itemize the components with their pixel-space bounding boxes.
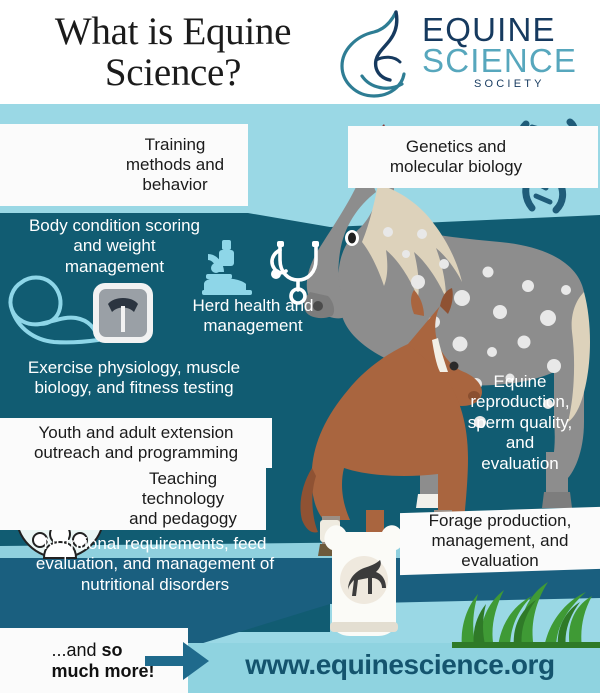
topic-extension-label: Youth and adult extensionoutreach and pr… — [0, 423, 272, 463]
stethoscope-icon — [266, 240, 324, 302]
topic-exercise-label: Exercise physiology, musclebiology, and … — [4, 358, 264, 399]
topic-forage-label: Forage production,management, andevaluat… — [400, 511, 600, 571]
topic-genetics[interactable]: Genetics andmolecular biology — [348, 126, 598, 188]
topic-forage[interactable]: Forage production,management, andevaluat… — [400, 507, 600, 575]
more-prefix: ...and — [51, 640, 101, 660]
topic-training-label: Trainingmethods andbehavior — [0, 135, 248, 195]
logo-equine-text: EQUINE — [422, 14, 594, 45]
more-bold: so — [102, 640, 123, 660]
more-line2: much more! — [51, 661, 154, 681]
header: What is Equine Science? EQUINE SCIENCE S… — [0, 0, 600, 104]
topic-herd-health-label: Herd health andmanagement — [178, 296, 328, 337]
topic-extension[interactable]: Youth and adult extensionoutreach and pr… — [0, 418, 272, 468]
flexed-arm-icon — [6, 272, 106, 348]
topic-reproduction-label: Equinereproduction,sperm quality,andeval… — [452, 372, 588, 474]
feed-sack-icon — [318, 518, 410, 640]
topic-body-condition-label: Body condition scoringand weightmanageme… — [2, 216, 227, 277]
topic-teaching-label: Teachingtechnologyand pedagogy — [0, 469, 266, 529]
topic-training[interactable]: Trainingmethods andbehavior — [0, 124, 248, 206]
dotted-divider — [0, 104, 600, 118]
horse-head-outline-icon — [336, 8, 422, 100]
logo-science-text: SCIENCE — [422, 45, 594, 76]
topic-nutrition-label: Nutritional requirements, feedevaluation… — [2, 534, 308, 595]
infographic-poster: What is Equine Science? EQUINE SCIENCE S… — [0, 0, 600, 693]
page-title: What is Equine Science? — [8, 12, 338, 94]
topic-genetics-label: Genetics andmolecular biology — [348, 137, 598, 177]
website-url[interactable]: www.equinescience.org — [205, 640, 595, 690]
bathroom-scale-icon — [92, 282, 154, 344]
arrow-right-icon — [145, 638, 210, 684]
title-line-1: What is Equine — [8, 12, 338, 53]
logo-wordmark: EQUINE SCIENCE SOCIETY — [422, 14, 594, 90]
logo-society-text: SOCIETY — [474, 78, 594, 90]
title-line-2: Science? — [8, 53, 338, 94]
equine-science-society-logo[interactable]: EQUINE SCIENCE SOCIETY — [336, 6, 594, 102]
topic-teaching[interactable]: Teachingtechnologyand pedagogy — [0, 468, 266, 530]
more-text: ...and so much more! — [33, 640, 154, 681]
